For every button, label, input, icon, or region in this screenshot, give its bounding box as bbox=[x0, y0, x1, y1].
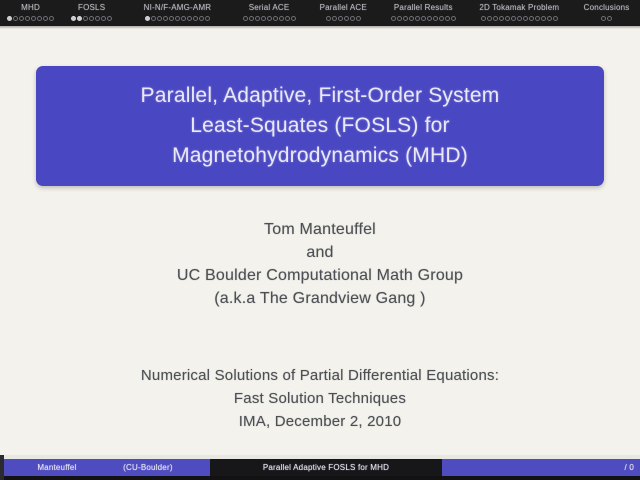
nav-frame-dot[interactable] bbox=[517, 16, 522, 21]
nav-frame-dot[interactable] bbox=[397, 16, 402, 21]
nav-frame-dot[interactable] bbox=[169, 16, 174, 21]
nav-frame-dot[interactable] bbox=[451, 16, 456, 21]
nav-frame-dot[interactable] bbox=[261, 16, 266, 21]
author-conjunction: and bbox=[0, 241, 640, 264]
nav-frame-dot[interactable] bbox=[409, 16, 414, 21]
nav-frame-dot[interactable] bbox=[350, 16, 355, 21]
nav-frame-dot[interactable] bbox=[49, 16, 54, 21]
nav-frame-dot[interactable] bbox=[193, 16, 198, 21]
title-line-2: Least-Squates (FOSLS) for bbox=[190, 111, 449, 141]
nav-frame-dot[interactable] bbox=[523, 16, 528, 21]
nav-frame-dot[interactable] bbox=[279, 16, 284, 21]
nav-frame-dot[interactable] bbox=[25, 16, 30, 21]
nav-frame-dot[interactable] bbox=[427, 16, 432, 21]
nav-frame-dot[interactable] bbox=[95, 16, 100, 21]
venue-event-subtitle: Fast Solution Techniques bbox=[0, 387, 640, 410]
nav-frame-dot[interactable] bbox=[391, 16, 396, 21]
nav-frame-dot[interactable] bbox=[89, 16, 94, 21]
nav-section-serial-ace[interactable]: Serial ACE bbox=[233, 2, 306, 13]
nav-frame-dot[interactable] bbox=[439, 16, 444, 21]
nav-frame-dot[interactable] bbox=[83, 16, 88, 21]
nav-frame-dot[interactable] bbox=[487, 16, 492, 21]
nav-dot-group-2 bbox=[122, 16, 233, 21]
nav-dot-group-6 bbox=[465, 16, 573, 21]
nav-section-2d-tokamak-problem[interactable]: 2D Tokamak Problem bbox=[465, 2, 573, 13]
nav-dot-group-1 bbox=[61, 16, 122, 21]
presentation-slide: MHDFOSLSNI-N/F-AMG-AMRSerial ACEParallel… bbox=[0, 0, 640, 480]
nav-frame-dot[interactable] bbox=[77, 16, 82, 21]
title-line-1: Parallel, Adaptive, First-Order System bbox=[141, 81, 500, 111]
nav-frame-dot[interactable] bbox=[547, 16, 552, 21]
author-block: Tom Manteuffel and UC Boulder Computatio… bbox=[0, 218, 640, 310]
nav-frame-dot[interactable] bbox=[481, 16, 486, 21]
nav-frame-dot[interactable] bbox=[499, 16, 504, 21]
nav-frame-dot[interactable] bbox=[43, 16, 48, 21]
nav-frame-dot[interactable] bbox=[285, 16, 290, 21]
nav-frame-dot[interactable] bbox=[553, 16, 558, 21]
nav-frame-dot[interactable] bbox=[31, 16, 36, 21]
nav-frame-dot[interactable] bbox=[163, 16, 168, 21]
nav-section-fosls[interactable]: FOSLS bbox=[61, 2, 122, 13]
nav-frame-dot[interactable] bbox=[151, 16, 156, 21]
footer-underline bbox=[0, 476, 640, 480]
nav-frame-dot[interactable] bbox=[415, 16, 420, 21]
nav-frame-dot[interactable] bbox=[107, 16, 112, 21]
nav-dot-group-3 bbox=[233, 16, 306, 21]
nav-frame-dot[interactable] bbox=[7, 16, 12, 21]
nav-section-labels: MHDFOSLSNI-N/F-AMG-AMRSerial ACEParallel… bbox=[0, 1, 640, 13]
beamer-navigation-bar: MHDFOSLSNI-N/F-AMG-AMRSerial ACEParallel… bbox=[0, 0, 640, 26]
nav-dot-group-0 bbox=[0, 16, 61, 21]
slide-title-box: Parallel, Adaptive, First-Order System L… bbox=[36, 66, 604, 186]
nav-frame-dot[interactable] bbox=[344, 16, 349, 21]
footer-left-edge bbox=[0, 455, 4, 480]
nav-dot-group-5 bbox=[381, 16, 465, 21]
nav-frame-dot[interactable] bbox=[505, 16, 510, 21]
nav-frame-dot[interactable] bbox=[493, 16, 498, 21]
nav-frame-dot[interactable] bbox=[511, 16, 516, 21]
nav-frame-dot[interactable] bbox=[205, 16, 210, 21]
nav-frame-dot[interactable] bbox=[338, 16, 343, 21]
venue-event-title: Numerical Solutions of Partial Different… bbox=[0, 364, 640, 387]
nav-section-conclusions[interactable]: Conclusions bbox=[573, 2, 640, 13]
author-name: Tom Manteuffel bbox=[0, 218, 640, 241]
nav-frame-dot[interactable] bbox=[273, 16, 278, 21]
nav-frame-dot[interactable] bbox=[37, 16, 42, 21]
nav-frame-dot[interactable] bbox=[445, 16, 450, 21]
nav-frame-dot[interactable] bbox=[433, 16, 438, 21]
footer-author-segment: Manteuffel (CU-Boulder) bbox=[0, 459, 210, 476]
nav-frame-dot[interactable] bbox=[535, 16, 540, 21]
nav-frame-dot[interactable] bbox=[326, 16, 331, 21]
nav-frame-dot[interactable] bbox=[157, 16, 162, 21]
nav-frame-dot[interactable] bbox=[145, 16, 150, 21]
beamer-footline: Manteuffel (CU-Boulder) Parallel Adaptiv… bbox=[0, 459, 640, 476]
nav-frame-dot[interactable] bbox=[529, 16, 534, 21]
nav-frame-dot[interactable] bbox=[267, 16, 272, 21]
footer-short-title: Parallel Adaptive FOSLS for MHD bbox=[263, 463, 389, 472]
nav-frame-dot[interactable] bbox=[13, 16, 18, 21]
nav-frame-dot[interactable] bbox=[332, 16, 337, 21]
nav-frame-dot[interactable] bbox=[291, 16, 296, 21]
nav-frame-dot[interactable] bbox=[249, 16, 254, 21]
nav-section-parallel-results[interactable]: Parallel Results bbox=[381, 2, 465, 13]
nav-frame-dot[interactable] bbox=[199, 16, 204, 21]
nav-frame-dot[interactable] bbox=[421, 16, 426, 21]
footer-page-segment: / 0 bbox=[442, 459, 640, 476]
nav-frame-dot[interactable] bbox=[101, 16, 106, 21]
nav-frame-dot[interactable] bbox=[403, 16, 408, 21]
venue-block: Numerical Solutions of Partial Different… bbox=[0, 364, 640, 433]
nav-section-mhd[interactable]: MHD bbox=[0, 2, 61, 13]
nav-section-ni-n-f-amg-amr[interactable]: NI-N/F-AMG-AMR bbox=[122, 2, 233, 13]
nav-dot-group-4 bbox=[305, 16, 381, 21]
navbar-shadow bbox=[0, 26, 640, 29]
nav-frame-dot[interactable] bbox=[175, 16, 180, 21]
nav-frame-dot[interactable] bbox=[601, 16, 606, 21]
nav-frame-dot[interactable] bbox=[607, 16, 612, 21]
nav-frame-dot[interactable] bbox=[181, 16, 186, 21]
nav-section-parallel-ace[interactable]: Parallel ACE bbox=[305, 2, 381, 13]
nav-frame-dot[interactable] bbox=[243, 16, 248, 21]
nav-frame-dot[interactable] bbox=[71, 16, 76, 21]
nav-frame-dot[interactable] bbox=[255, 16, 260, 21]
nav-frame-dot[interactable] bbox=[541, 16, 546, 21]
nav-dot-group-7 bbox=[573, 16, 640, 21]
nav-frame-dot[interactable] bbox=[19, 16, 24, 21]
author-group: UC Boulder Computational Math Group bbox=[0, 264, 640, 287]
nav-frame-dots bbox=[0, 14, 640, 23]
footer-page-number: / 0 bbox=[625, 463, 635, 472]
footer-affiliation: (CU-Boulder) bbox=[123, 463, 173, 472]
footer-author-name: Manteuffel bbox=[37, 463, 76, 472]
footer-title-segment: Parallel Adaptive FOSLS for MHD bbox=[210, 459, 442, 476]
nav-frame-dot[interactable] bbox=[187, 16, 192, 21]
author-group-nickname: (a.k.a The Grandview Gang ) bbox=[0, 287, 640, 310]
nav-frame-dot[interactable] bbox=[356, 16, 361, 21]
title-line-3: Magnetohydrodynamics (MHD) bbox=[172, 141, 468, 171]
venue-location-date: IMA, December 2, 2010 bbox=[0, 410, 640, 433]
